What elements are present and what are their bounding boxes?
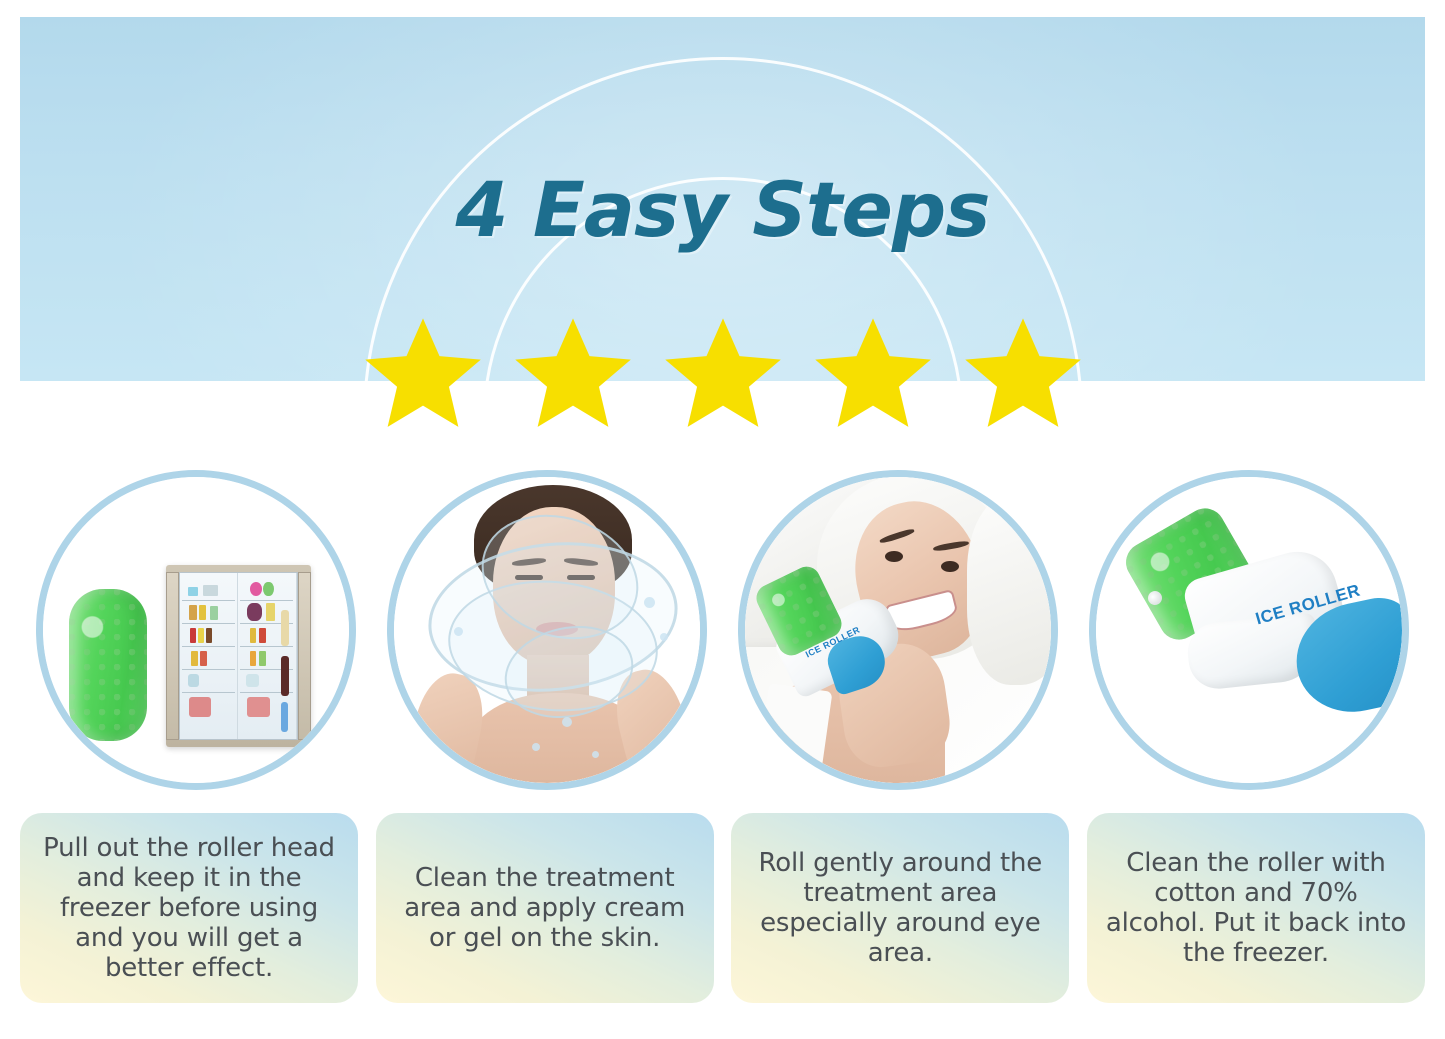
step-1-caption-text: Pull out the roller head and keep it in … bbox=[34, 833, 344, 984]
step-4-caption-text: Clean the roller with cotton and 70% alc… bbox=[1101, 848, 1411, 969]
step-2-caption: Clean the treatment area and apply cream… bbox=[376, 813, 714, 1003]
fridge-door-left bbox=[166, 572, 179, 739]
page-title: 4 Easy Steps bbox=[0, 165, 1445, 254]
step-3-image: ICE ROLLER bbox=[738, 470, 1058, 790]
product-infographic: 4 Easy Steps bbox=[0, 0, 1445, 1039]
step-2-image bbox=[387, 470, 707, 790]
roller-head-green bbox=[69, 589, 147, 741]
step-3-caption: Roll gently around the treatment area es… bbox=[731, 813, 1069, 1003]
step-4-image: ICE ROLLER bbox=[1089, 470, 1409, 790]
step-4-caption: Clean the roller with cotton and 70% alc… bbox=[1087, 813, 1425, 1003]
step-2-caption-text: Clean the treatment area and apply cream… bbox=[390, 863, 700, 953]
fridge-column-left bbox=[180, 573, 238, 738]
fridge-column-right bbox=[238, 573, 296, 738]
step-2-artwork bbox=[394, 477, 700, 783]
step-1-artwork bbox=[43, 477, 349, 783]
step-3-caption-text: Roll gently around the treatment area es… bbox=[745, 848, 1055, 969]
step-caption-row: Pull out the roller head and keep it in … bbox=[20, 813, 1425, 1011]
step-image-row: ICE ROLLER ICE ROLLER bbox=[20, 470, 1425, 800]
step-4-artwork: ICE ROLLER bbox=[1096, 477, 1402, 783]
fridge-door-right bbox=[298, 572, 311, 739]
step-1-image bbox=[36, 470, 356, 790]
fridge-interior bbox=[179, 572, 298, 739]
eye-right bbox=[941, 561, 959, 572]
step-1-caption: Pull out the roller head and keep it in … bbox=[20, 813, 358, 1003]
towel-right-drape bbox=[967, 495, 1051, 685]
refrigerator bbox=[166, 565, 311, 747]
eye-left bbox=[885, 551, 903, 562]
step-3-artwork: ICE ROLLER bbox=[745, 477, 1051, 783]
